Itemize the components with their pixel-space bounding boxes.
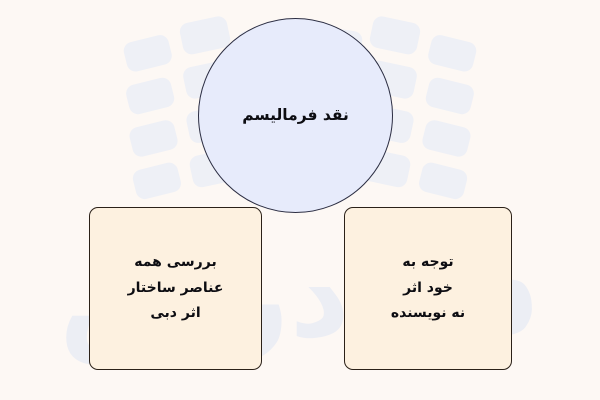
child-node-right-box[interactable]: توجه به خود اثر نه نویسنده [344, 207, 512, 370]
root-node-label: نقد فرمالیسم [242, 105, 349, 126]
child-left-line-2: عناصر ساختار [128, 276, 224, 302]
child-node-left-box[interactable]: بررسی همه عناصر ساختار اثر دبی [89, 207, 262, 370]
child-right-line-3: نه نویسنده [391, 301, 465, 327]
child-left-line-1: بررسی همه [128, 250, 224, 276]
child-right-line-2: خود اثر [391, 276, 465, 302]
child-left-line-3: اثر دبی [128, 301, 224, 327]
root-node-circle[interactable]: نقد فرمالیسم [198, 18, 393, 213]
child-node-right-label: توجه به خود اثر نه نویسنده [383, 250, 473, 328]
diagram-canvas: فرادرس نقد فرمالیسم بررسی همه عناصر ساخت… [0, 0, 600, 400]
child-node-left-label: بررسی همه عناصر ساختار اثر دبی [120, 250, 232, 328]
child-right-line-1: توجه به [391, 250, 465, 276]
